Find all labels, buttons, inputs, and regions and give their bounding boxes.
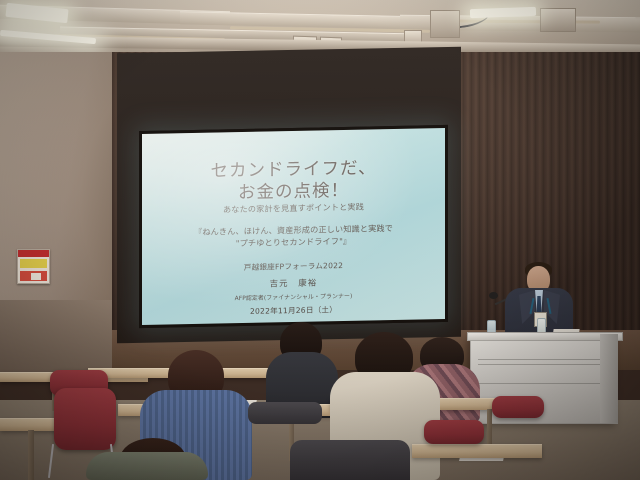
ceiling-fixture-box (540, 8, 576, 32)
attendee-front-left-body (86, 452, 208, 480)
podium-panel-line (478, 364, 608, 365)
slide-date: 2022年11月26日（土） (250, 304, 337, 317)
chair-seat (54, 388, 116, 450)
seminar-room-photo: セカンドライフだ、 お金の点検！ あなたの家計を見直すポイントと実践 『ねんきん… (0, 0, 640, 480)
microphone-head (489, 292, 498, 299)
podium-side-panel (600, 334, 618, 423)
poster-highlight-band (20, 259, 47, 268)
slide-speaker-name: 吉元 康裕 (270, 277, 318, 290)
table-leg (28, 430, 34, 480)
podium-panel-line (478, 383, 608, 384)
slide-quote-line2: "プチゆとりセカンドライフ"』 (236, 236, 351, 250)
podium-panel-line (478, 359, 608, 360)
projection-screen: セカンドライフだ、 お金の点検！ あなたの家計を見直すポイントと実践 『ねんきん… (139, 125, 448, 328)
mask-notice-poster (17, 249, 50, 284)
table-front-right (412, 444, 542, 458)
chair-back (424, 420, 484, 444)
slide-title-line2: お金の点検！ (238, 181, 349, 204)
projected-slide: セカンドライフだ、 お金の点検！ あなたの家計を見直すポイントと実践 『ねんきん… (142, 128, 445, 325)
chair-front-center (290, 440, 410, 480)
chair-back-dark (248, 402, 322, 424)
poster-white-patch (31, 273, 41, 280)
slide-title-line1: セカンドライフだ、 (211, 158, 377, 182)
ceiling-fixture-box (430, 10, 460, 38)
chair-back (492, 396, 544, 418)
slide-subtitle: あなたの家計を見直すポイントと実践 (223, 202, 364, 216)
slide-forum-name: 戸越銀座FPフォーラム2022 (244, 260, 343, 273)
slide-speaker-credential: AFP認定者(ファイナンシャル・プランナー) (235, 291, 353, 302)
poster-header-bar (18, 250, 49, 257)
